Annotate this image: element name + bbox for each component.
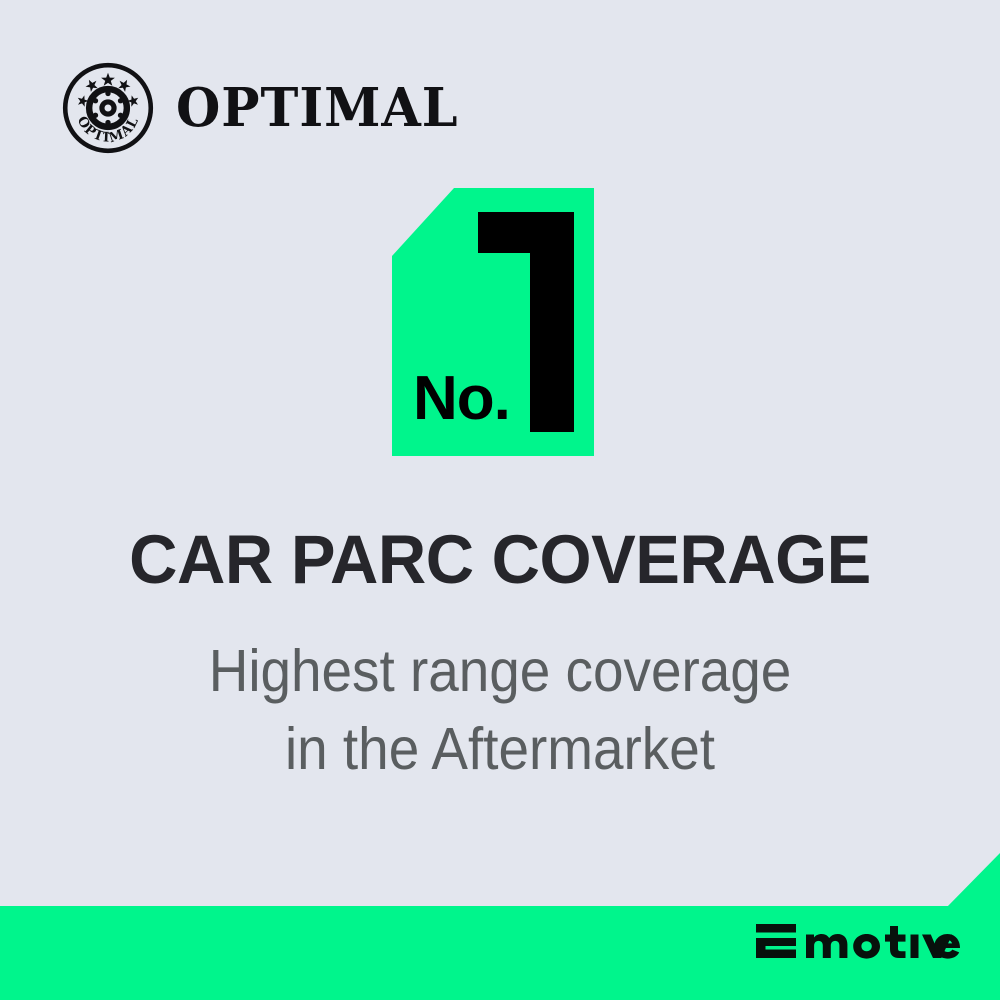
rank-badge-number	[478, 212, 574, 432]
brand-header: OPTIMAL OPTIMAL	[62, 62, 470, 154]
optimal-wheel-emblem-icon: OPTIMAL	[62, 62, 154, 154]
page-subtitle: Highest range coverage in the Aftermarke…	[35, 632, 965, 789]
rank-badge: No.	[392, 188, 594, 456]
poster-canvas: OPTIMAL OPTIMAL No. CAR PARC COVERAGE Hi…	[0, 0, 1000, 1000]
page-subtitle-line-1: Highest range coverage	[35, 632, 965, 710]
page-subtitle-line-2: in the Aftermarket	[35, 710, 965, 788]
footer-corner-chamfer	[946, 853, 1000, 908]
brand-wordmark: OPTIMAL	[176, 82, 459, 135]
emotive-logotype-icon	[753, 922, 965, 970]
page-title: CAR PARC COVERAGE	[15, 525, 985, 594]
